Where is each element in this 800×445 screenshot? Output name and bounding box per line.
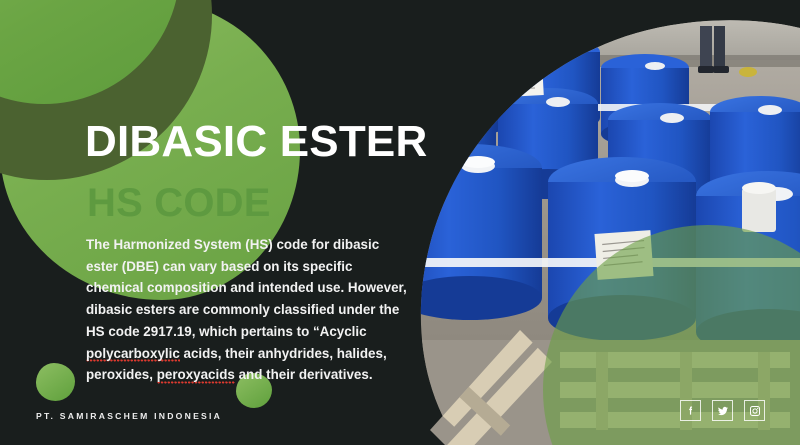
facebook-icon[interactable] <box>680 400 701 421</box>
slide-canvas: DIBASIC ESTER HS CODE The Harmonized Sys… <box>0 0 800 445</box>
spellcheck-word: peroxyacids <box>157 367 235 384</box>
twitter-icon[interactable] <box>712 400 733 421</box>
page-title: DIBASIC ESTER <box>85 120 427 164</box>
social-links <box>680 400 765 421</box>
spellcheck-word: polycarboxylic <box>86 346 180 363</box>
decorative-blob-left <box>36 363 75 401</box>
page-subtitle: HS CODE <box>87 183 271 223</box>
footer-company-name: PT. SAMIRASCHEM INDONESIA <box>36 411 222 421</box>
body-paragraph: The Harmonized System (HS) code for diba… <box>86 234 411 386</box>
instagram-icon[interactable] <box>744 400 765 421</box>
